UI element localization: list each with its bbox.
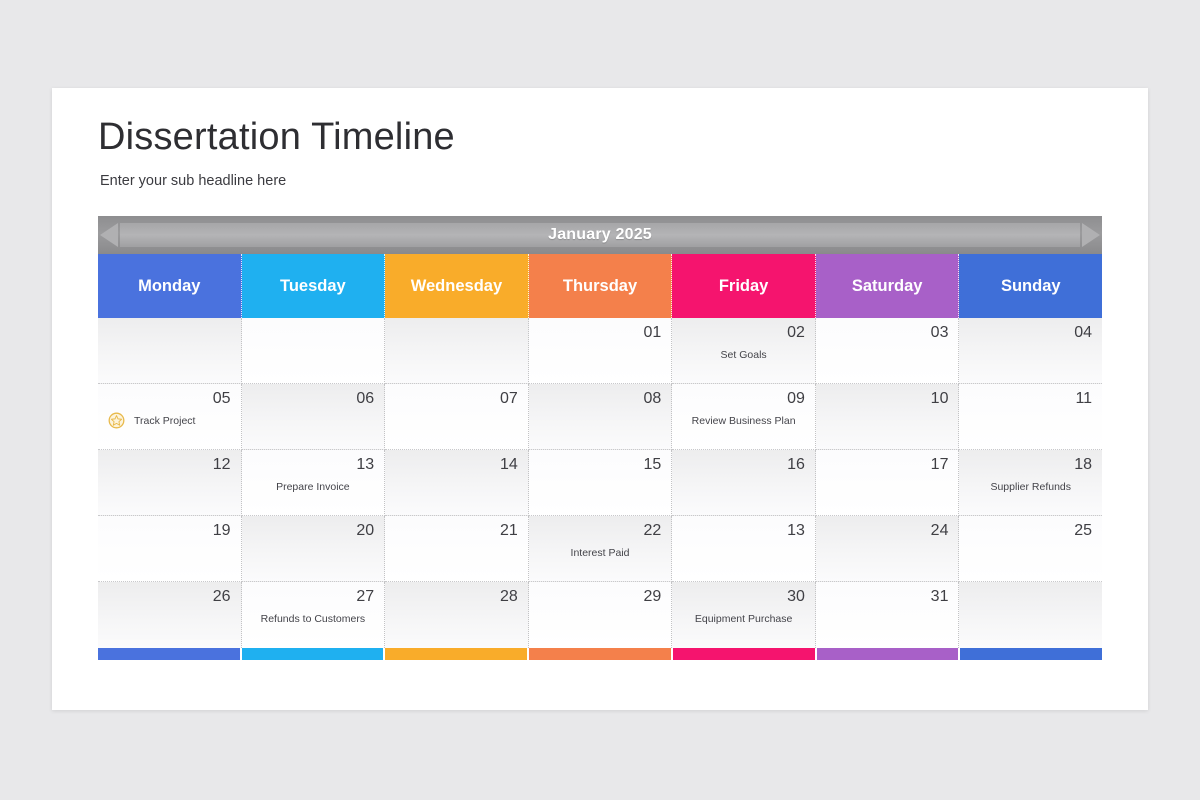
calendar-grid: 0102Set Goals030405Track Project06070809… [98, 318, 1102, 648]
day-cell-06[interactable]: 06 [242, 384, 386, 450]
month-label: January 2025 [548, 226, 652, 244]
day-event-label: Supplier Refunds [959, 481, 1102, 493]
weekday-header-sunday[interactable]: Sunday [959, 254, 1102, 318]
day-cell-25[interactable]: 25 [959, 516, 1102, 582]
day-number: 17 [931, 456, 949, 474]
day-cell-11[interactable]: 11 [959, 384, 1102, 450]
day-cell-13[interactable]: 13 [672, 516, 816, 582]
day-cell-04[interactable]: 04 [959, 318, 1102, 384]
footer-segment-friday [673, 648, 817, 660]
weekday-header-wednesday[interactable]: Wednesday [385, 254, 529, 318]
day-event-label: Equipment Purchase [672, 613, 815, 625]
footer-segment-sunday [960, 648, 1102, 660]
day-number: 26 [213, 588, 231, 606]
day-event-label: Prepare Invoice [242, 481, 385, 493]
day-event-label: Refunds to Customers [242, 613, 385, 625]
day-number: 21 [500, 522, 518, 540]
weekday-label: Saturday [852, 277, 923, 296]
weekday-label: Wednesday [411, 277, 502, 296]
weekday-label: Thursday [563, 277, 637, 296]
day-cell-10[interactable]: 10 [816, 384, 960, 450]
day-cell-14[interactable]: 14 [385, 450, 529, 516]
weekday-header-saturday[interactable]: Saturday [816, 254, 960, 318]
day-number: 28 [500, 588, 518, 606]
day-cell-08[interactable]: 08 [529, 384, 673, 450]
page-title: Dissertation Timeline [98, 116, 455, 159]
right-arrow-icon[interactable] [1078, 216, 1102, 254]
day-cell-13[interactable]: 13Prepare Invoice [242, 450, 386, 516]
day-cell-22[interactable]: 22Interest Paid [529, 516, 673, 582]
day-cell-07[interactable]: 07 [385, 384, 529, 450]
day-cell-empty[interactable] [385, 318, 529, 384]
day-cell-12[interactable]: 12 [98, 450, 242, 516]
day-cell-empty[interactable] [959, 582, 1102, 648]
day-number: 02 [787, 324, 805, 342]
calendar-widget: January 2025 MondayTuesdayWednesdayThurs… [98, 216, 1102, 660]
calendar-week-row: 0102Set Goals0304 [98, 318, 1102, 384]
day-cell-09[interactable]: 09Review Business Plan [672, 384, 816, 450]
day-cell-empty[interactable] [98, 318, 242, 384]
day-cell-24[interactable]: 24 [816, 516, 960, 582]
weekday-header-monday[interactable]: Monday [98, 254, 242, 318]
day-number: 15 [644, 456, 662, 474]
day-cell-27[interactable]: 27Refunds to Customers [242, 582, 386, 648]
day-number: 18 [1074, 456, 1092, 474]
weekday-label: Sunday [1001, 277, 1061, 296]
day-cell-26[interactable]: 26 [98, 582, 242, 648]
day-number: 05 [213, 390, 231, 408]
day-number: 31 [931, 588, 949, 606]
day-number: 25 [1074, 522, 1092, 540]
footer-segment-wednesday [385, 648, 529, 660]
weekday-header-friday[interactable]: Friday [672, 254, 816, 318]
footer-segment-thursday [529, 648, 673, 660]
day-number: 04 [1074, 324, 1092, 342]
footer-segment-tuesday [242, 648, 386, 660]
day-cell-19[interactable]: 19 [98, 516, 242, 582]
day-event-label: Set Goals [672, 349, 815, 361]
calendar-week-row: 19202122Interest Paid132425 [98, 516, 1102, 582]
calendar-week-row: 2627Refunds to Customers282930Equipment … [98, 582, 1102, 648]
day-cell-16[interactable]: 16 [672, 450, 816, 516]
day-cell-05[interactable]: 05Track Project [98, 384, 242, 450]
day-number: 01 [644, 324, 662, 342]
day-event-label: Track Project [98, 415, 241, 427]
day-number: 03 [931, 324, 949, 342]
weekday-header-thursday[interactable]: Thursday [529, 254, 673, 318]
day-number: 22 [644, 522, 662, 540]
day-cell-28[interactable]: 28 [385, 582, 529, 648]
day-number: 08 [644, 390, 662, 408]
weekday-label: Friday [719, 277, 769, 296]
day-number: 10 [931, 390, 949, 408]
day-cell-18[interactable]: 18Supplier Refunds [959, 450, 1102, 516]
day-cell-30[interactable]: 30Equipment Purchase [672, 582, 816, 648]
day-number: 14 [500, 456, 518, 474]
day-number: 27 [356, 588, 374, 606]
slide-canvas: Dissertation Timeline Enter your sub hea… [52, 88, 1148, 710]
day-cell-31[interactable]: 31 [816, 582, 960, 648]
month-navigation-bar: January 2025 [98, 216, 1102, 254]
day-event-label: Review Business Plan [672, 415, 815, 427]
day-cell-01[interactable]: 01 [529, 318, 673, 384]
day-cell-21[interactable]: 21 [385, 516, 529, 582]
day-number: 12 [213, 456, 231, 474]
page-subtitle: Enter your sub headline here [100, 173, 286, 189]
calendar-week-row: 05Track Project06070809Review Business P… [98, 384, 1102, 450]
day-cell-29[interactable]: 29 [529, 582, 673, 648]
day-number: 29 [644, 588, 662, 606]
day-cell-02[interactable]: 02Set Goals [672, 318, 816, 384]
footer-segment-monday [98, 648, 242, 660]
day-number: 24 [931, 522, 949, 540]
day-number: 16 [787, 456, 805, 474]
day-number: 19 [213, 522, 231, 540]
day-event-label: Interest Paid [529, 547, 672, 559]
weekday-label: Monday [138, 277, 200, 296]
day-number: 06 [356, 390, 374, 408]
day-number: 11 [1075, 390, 1092, 408]
day-number: 13 [356, 456, 374, 474]
day-number: 09 [787, 390, 805, 408]
weekday-header-row: MondayTuesdayWednesdayThursdayFridaySatu… [98, 254, 1102, 318]
day-cell-15[interactable]: 15 [529, 450, 673, 516]
weekday-label: Tuesday [280, 277, 346, 296]
footer-segment-saturday [817, 648, 961, 660]
day-cell-03[interactable]: 03 [816, 318, 960, 384]
day-number: 20 [356, 522, 374, 540]
day-cell-20[interactable]: 20 [242, 516, 386, 582]
left-arrow-icon[interactable] [98, 216, 122, 254]
day-number: 13 [787, 522, 805, 540]
weekday-header-tuesday[interactable]: Tuesday [242, 254, 386, 318]
day-cell-empty[interactable] [242, 318, 386, 384]
footer-color-strip [98, 648, 1102, 660]
day-cell-17[interactable]: 17 [816, 450, 960, 516]
day-number: 07 [500, 390, 518, 408]
calendar-week-row: 1213Prepare Invoice1415161718Supplier Re… [98, 450, 1102, 516]
day-number: 30 [787, 588, 805, 606]
